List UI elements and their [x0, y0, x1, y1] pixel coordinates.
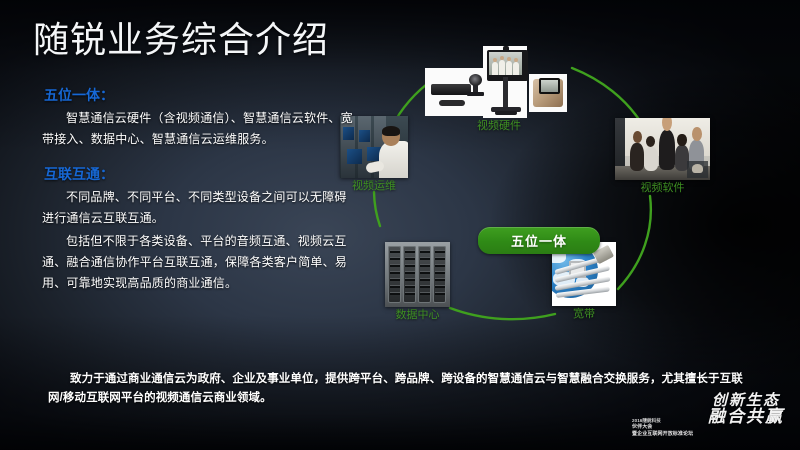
ring-arc-datacenter-to-ops: [374, 192, 380, 226]
diagram-node-caption-video-hardware: 视频硬件: [425, 119, 573, 133]
logo-subtext-line1: 伙伴大会: [632, 424, 706, 431]
event-logo: 创新生态 融合共赢 2016隨銳科技 伙伴大会 暨企业互联网开放标准论坛: [632, 392, 782, 442]
section-heading-wuweiyiti: 五位一体：: [44, 85, 355, 105]
diagram-node-data-center[interactable]: 数据中心: [385, 242, 450, 322]
logo-subtext: 2016隨銳科技 伙伴大会 暨企业互联网开放标准论坛: [632, 417, 706, 438]
section-paragraph-wuweiyiti-1: 智慧通信云硬件（含视频通信）、智慧通信云软件、宽带接入、数据中心、智慧通信云运维…: [42, 108, 355, 150]
logo-subtext-line2: 暨企业互联网开放标准论坛: [632, 431, 706, 438]
presentation-slide: 随锐业务综合介绍 五位一体： 智慧通信云硬件（含视频通信）、智慧通信云软件、宽带…: [0, 0, 800, 450]
logo-calligraphy: 创新生态 融合共赢: [708, 392, 780, 426]
logo-calligraphy-line2: 融合共赢: [708, 409, 784, 426]
diagram-node-caption-data-center: 数据中心: [385, 308, 450, 322]
ring-arc-hardware-to-software: [572, 68, 642, 124]
five-in-one-diagram: 五位一体: [350, 46, 770, 346]
server-racks-photo: [385, 242, 450, 307]
diagram-center-badge: 五位一体: [478, 227, 600, 254]
left-text-column: 五位一体： 智慧通信云硬件（含视频通信）、智慧通信云软件、宽带接入、数据中心、智…: [40, 85, 355, 294]
section-heading-hulianhutong: 互联互通：: [44, 164, 355, 184]
ring-arc-broadband-to-datacenter: [450, 308, 555, 319]
section-paragraph-hulianhutong-1: 不同品牌、不同平台、不同类型设备之间可以无障碍进行通信云互联互通。: [42, 187, 355, 229]
diagram-node-caption-video-software: 视频软件: [615, 181, 710, 195]
page-title: 随锐业务综合介绍: [33, 18, 329, 62]
diagram-node-video-hardware[interactable]: 视频硬件: [425, 46, 573, 133]
video-conference-endpoint-photo: [425, 46, 573, 118]
diagram-node-caption-broadband: 宽带: [552, 307, 616, 321]
meeting-room-photo: [615, 118, 710, 180]
diagram-center-label: 五位一体: [511, 231, 567, 250]
diagram-node-video-software[interactable]: 视频软件: [615, 118, 710, 195]
section-paragraph-hulianhutong-2: 包括但不限于各类设备、平台的音频互通、视频云互通、融合通信协作平台互联互通，保障…: [42, 231, 355, 294]
logo-subtext-year: 2016隨銳科技: [632, 417, 706, 424]
ring-arc-software-to-broadband: [618, 196, 651, 289]
